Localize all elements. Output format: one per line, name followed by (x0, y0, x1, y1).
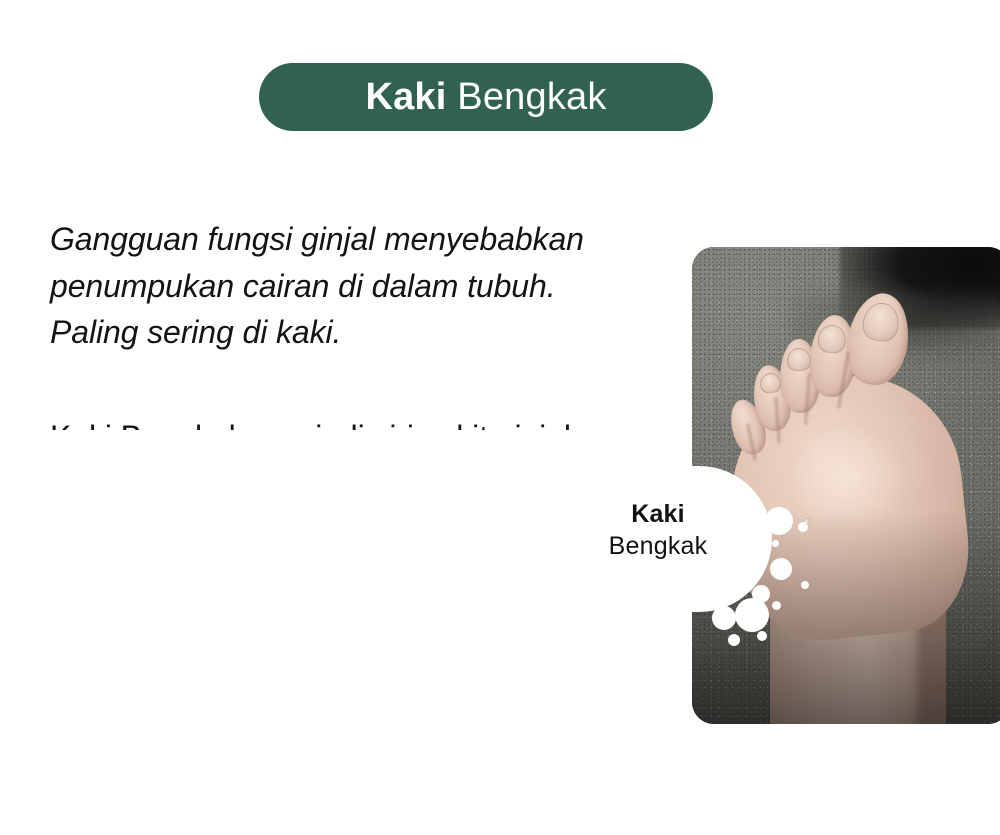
bubble-icon (770, 558, 792, 580)
page-title-strong: Kaki (365, 76, 446, 118)
bubble-icon (765, 507, 793, 535)
bubble-icon (735, 598, 769, 632)
bubble-icon (801, 581, 809, 589)
page-title: Kaki Bengkak (365, 78, 606, 116)
photo-caption-line1: Kaki (560, 498, 756, 530)
page-title-pill: Kaki Bengkak (259, 63, 713, 131)
page-title-light: Bengkak (447, 76, 607, 118)
photo-caption: Kaki Bengkak (560, 498, 756, 562)
infographic-slide: { "header": { "title_strong": "Kaki", "t… (0, 0, 1000, 835)
bubble-icon (772, 601, 781, 610)
bubble-icon (728, 634, 740, 646)
photo-caption-line2: Bengkak (560, 530, 756, 562)
bubble-icon (757, 631, 767, 641)
bubble-icon (772, 540, 779, 547)
bubble-icon (712, 606, 736, 630)
bubble-icon (798, 522, 808, 532)
paragraph-intro: Gangguan fungsi ginjal menyebabkan penum… (50, 216, 610, 356)
